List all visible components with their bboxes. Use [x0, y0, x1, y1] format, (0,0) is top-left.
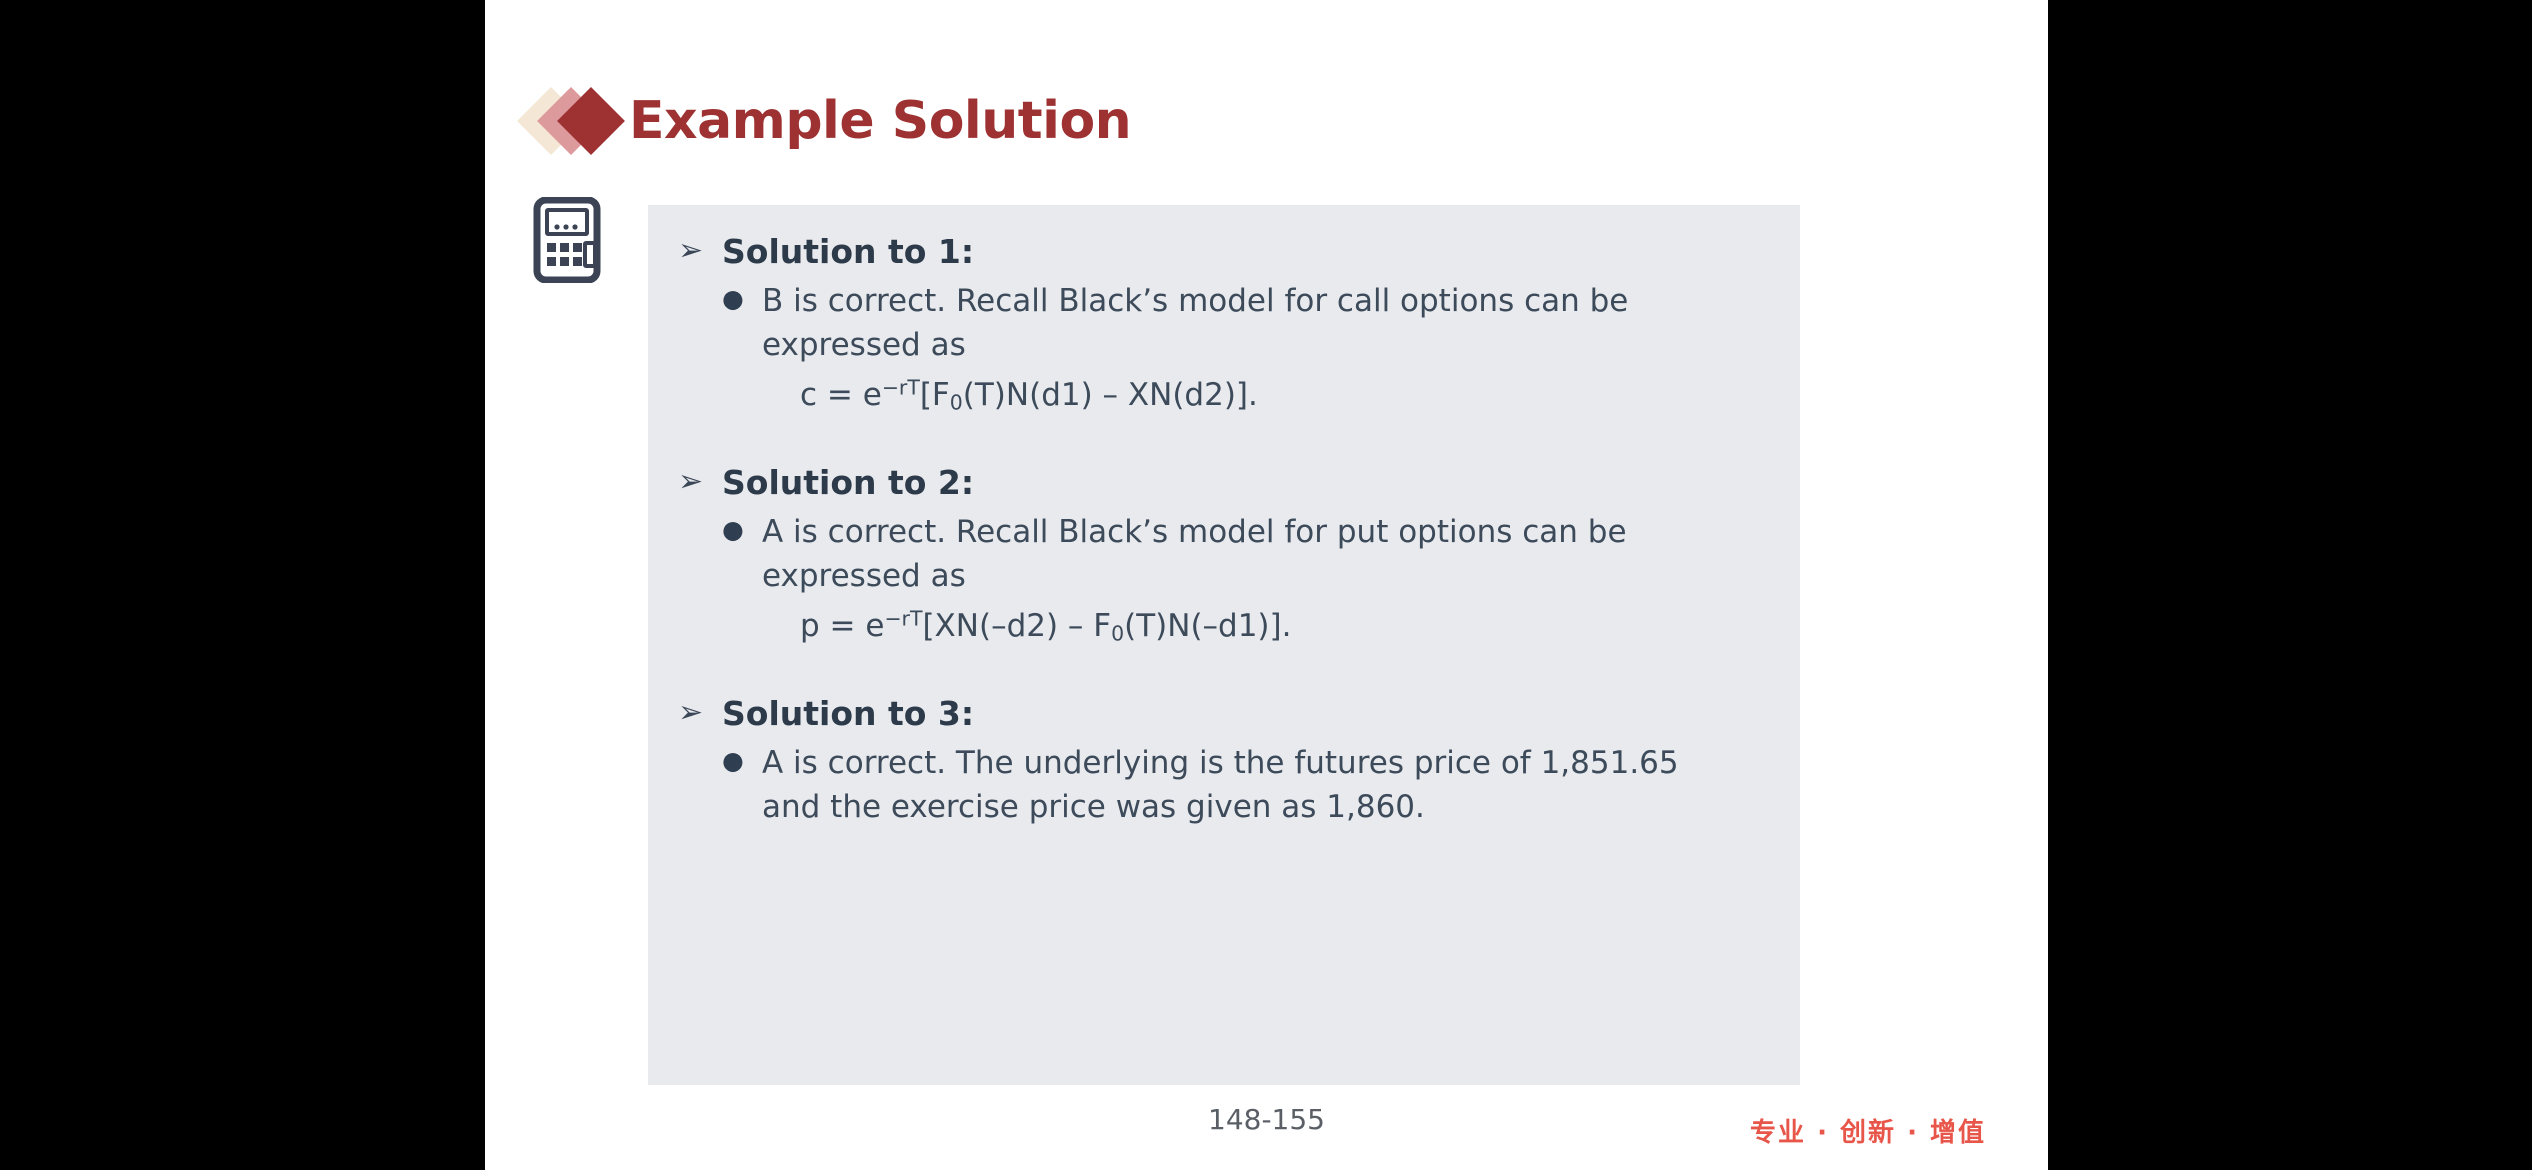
arrow-bullet-icon: ➢ [678, 462, 722, 501]
formula-2-rest-b: (T)N(–d1)]. [1124, 608, 1291, 644]
solution-1-body: B is correct. Recall Black’s model for c… [762, 279, 1722, 367]
dot-bullet-icon: ● [722, 510, 762, 550]
formula-2-subscript: 0 [1111, 622, 1124, 646]
solution-1-body-row: ● B is correct. Recall Black’s model for… [678, 279, 1770, 367]
solution-3-body-row: ● A is correct. The underlying is the fu… [678, 741, 1770, 829]
slide-canvas: Example Solution [485, 0, 2048, 1170]
solution-2-heading-row: ➢ Solution to 2: [678, 462, 1770, 503]
solution-1-formula: c = e−rT[F0(T)N(d1) – XN(d2)]. [678, 373, 1770, 418]
solution-block-1: ➢ Solution to 1: ● B is correct. Recall … [678, 231, 1770, 418]
dot-bullet-icon: ● [722, 741, 762, 781]
footer-tagline: 专业 · 创新 · 增值 [1750, 1112, 1986, 1149]
formula-1-exponent: −rT [882, 376, 920, 400]
solutions-panel: ➢ Solution to 1: ● B is correct. Recall … [648, 205, 1800, 1085]
letterbox-left [0, 0, 485, 1170]
arrow-bullet-icon: ➢ [678, 231, 722, 270]
page-title: Example Solution [629, 95, 1131, 147]
formula-1-rest-b: (T)N(d1) – XN(d2)]. [963, 377, 1258, 413]
formula-2-rest-a: [XN(–d2) – F [922, 608, 1111, 644]
solution-2-formula: p = e−rT[XN(–d2) – F0(T)N(–d1)]. [678, 604, 1770, 649]
letterbox-right [2048, 0, 2532, 1170]
formula-2-exponent: −rT [884, 606, 922, 630]
dot-bullet-icon: ● [722, 279, 762, 319]
solution-2-heading: Solution to 2: [722, 462, 974, 503]
calculator-icon [533, 197, 601, 283]
formula-1-lead: c = e [800, 377, 882, 413]
formula-1-rest-a: [F [920, 377, 950, 413]
formula-2-lead: p = e [800, 608, 884, 644]
slide-title-row: Example Solution [525, 78, 1131, 164]
solution-3-heading: Solution to 3: [722, 693, 974, 734]
solution-block-3: ➢ Solution to 3: ● A is correct. The und… [678, 693, 1770, 829]
solution-3-heading-row: ➢ Solution to 3: [678, 693, 1770, 734]
solution-1-heading: Solution to 1: [722, 231, 974, 272]
arrow-bullet-icon: ➢ [678, 693, 722, 732]
solution-1-heading-row: ➢ Solution to 1: [678, 231, 1770, 272]
brand-diamond-logo-icon [525, 83, 621, 159]
solution-block-2: ➢ Solution to 2: ● A is correct. Recall … [678, 462, 1770, 649]
slide-viewer: Example Solution [0, 0, 2532, 1170]
solution-2-body-row: ● A is correct. Recall Black’s model for… [678, 510, 1770, 598]
solution-3-body: A is correct. The underlying is the futu… [762, 741, 1722, 829]
formula-1-subscript: 0 [950, 391, 963, 415]
solution-2-body: A is correct. Recall Black’s model for p… [762, 510, 1722, 598]
